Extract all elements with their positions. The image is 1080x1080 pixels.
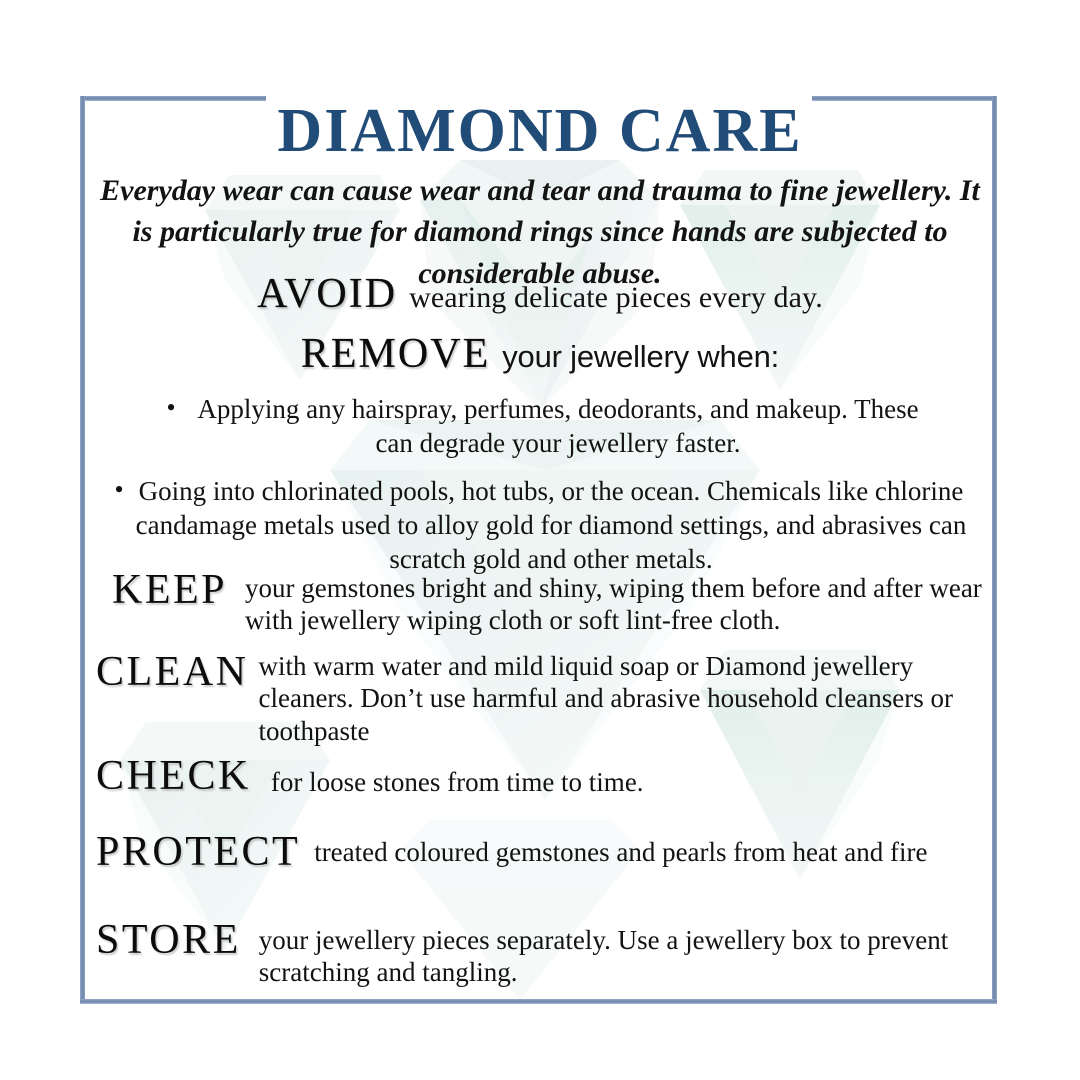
store-body: your jewellery pieces separately. Use a …	[259, 916, 992, 989]
keep-body: your gemstones bright and shiny, wiping …	[245, 566, 992, 637]
avoid-text: wearing delicate pieces every day.	[409, 281, 823, 314]
protect-keyword: PROTECT	[96, 828, 314, 876]
list-item-text: Going into chlorinated pools, hot tubs, …	[132, 474, 970, 576]
clean-body: with warm water and mild liquid soap or …	[259, 648, 993, 747]
remove-text: your jewellery when:	[502, 339, 779, 374]
remove-bullet-list: • Applying any hairspray, perfumes, deod…	[120, 392, 970, 590]
bullet-icon: •	[158, 392, 184, 425]
list-item: • Going into chlorinated pools, hot tubs…	[106, 474, 970, 576]
section-keep: KEEP your gemstones bright and shiny, wi…	[112, 566, 992, 637]
section-store: STORE your jewellery pieces separately. …	[96, 916, 992, 989]
remove-keyword: REMOVE	[301, 331, 490, 377]
avoid-row: AVOIDwearing delicate pieces every day.	[80, 270, 1000, 318]
check-body: for loose stones from time to time.	[271, 752, 992, 798]
protect-body: treated coloured gemstones and pearls fr…	[314, 828, 992, 868]
diamond-care-poster: DIAMOND CARE Everyday wear can cause wea…	[0, 0, 1080, 1080]
avoid-keyword: AVOID	[257, 271, 397, 317]
list-item-text: Applying any hairspray, perfumes, deodor…	[184, 392, 932, 460]
bullet-icon: •	[106, 474, 132, 507]
list-item: • Applying any hairspray, perfumes, deod…	[120, 392, 970, 460]
check-keyword: CHECK	[96, 752, 271, 800]
remove-row: REMOVEyour jewellery when:	[80, 330, 1000, 378]
section-check: CHECK for loose stones from time to time…	[96, 752, 992, 800]
page-title: DIAMOND CARE	[0, 100, 1080, 162]
keep-keyword: KEEP	[112, 566, 245, 614]
section-clean: CLEAN with warm water and mild liquid so…	[96, 648, 992, 747]
section-protect: PROTECT treated coloured gemstones and p…	[96, 828, 992, 876]
clean-keyword: CLEAN	[96, 648, 259, 696]
store-keyword: STORE	[96, 916, 259, 964]
